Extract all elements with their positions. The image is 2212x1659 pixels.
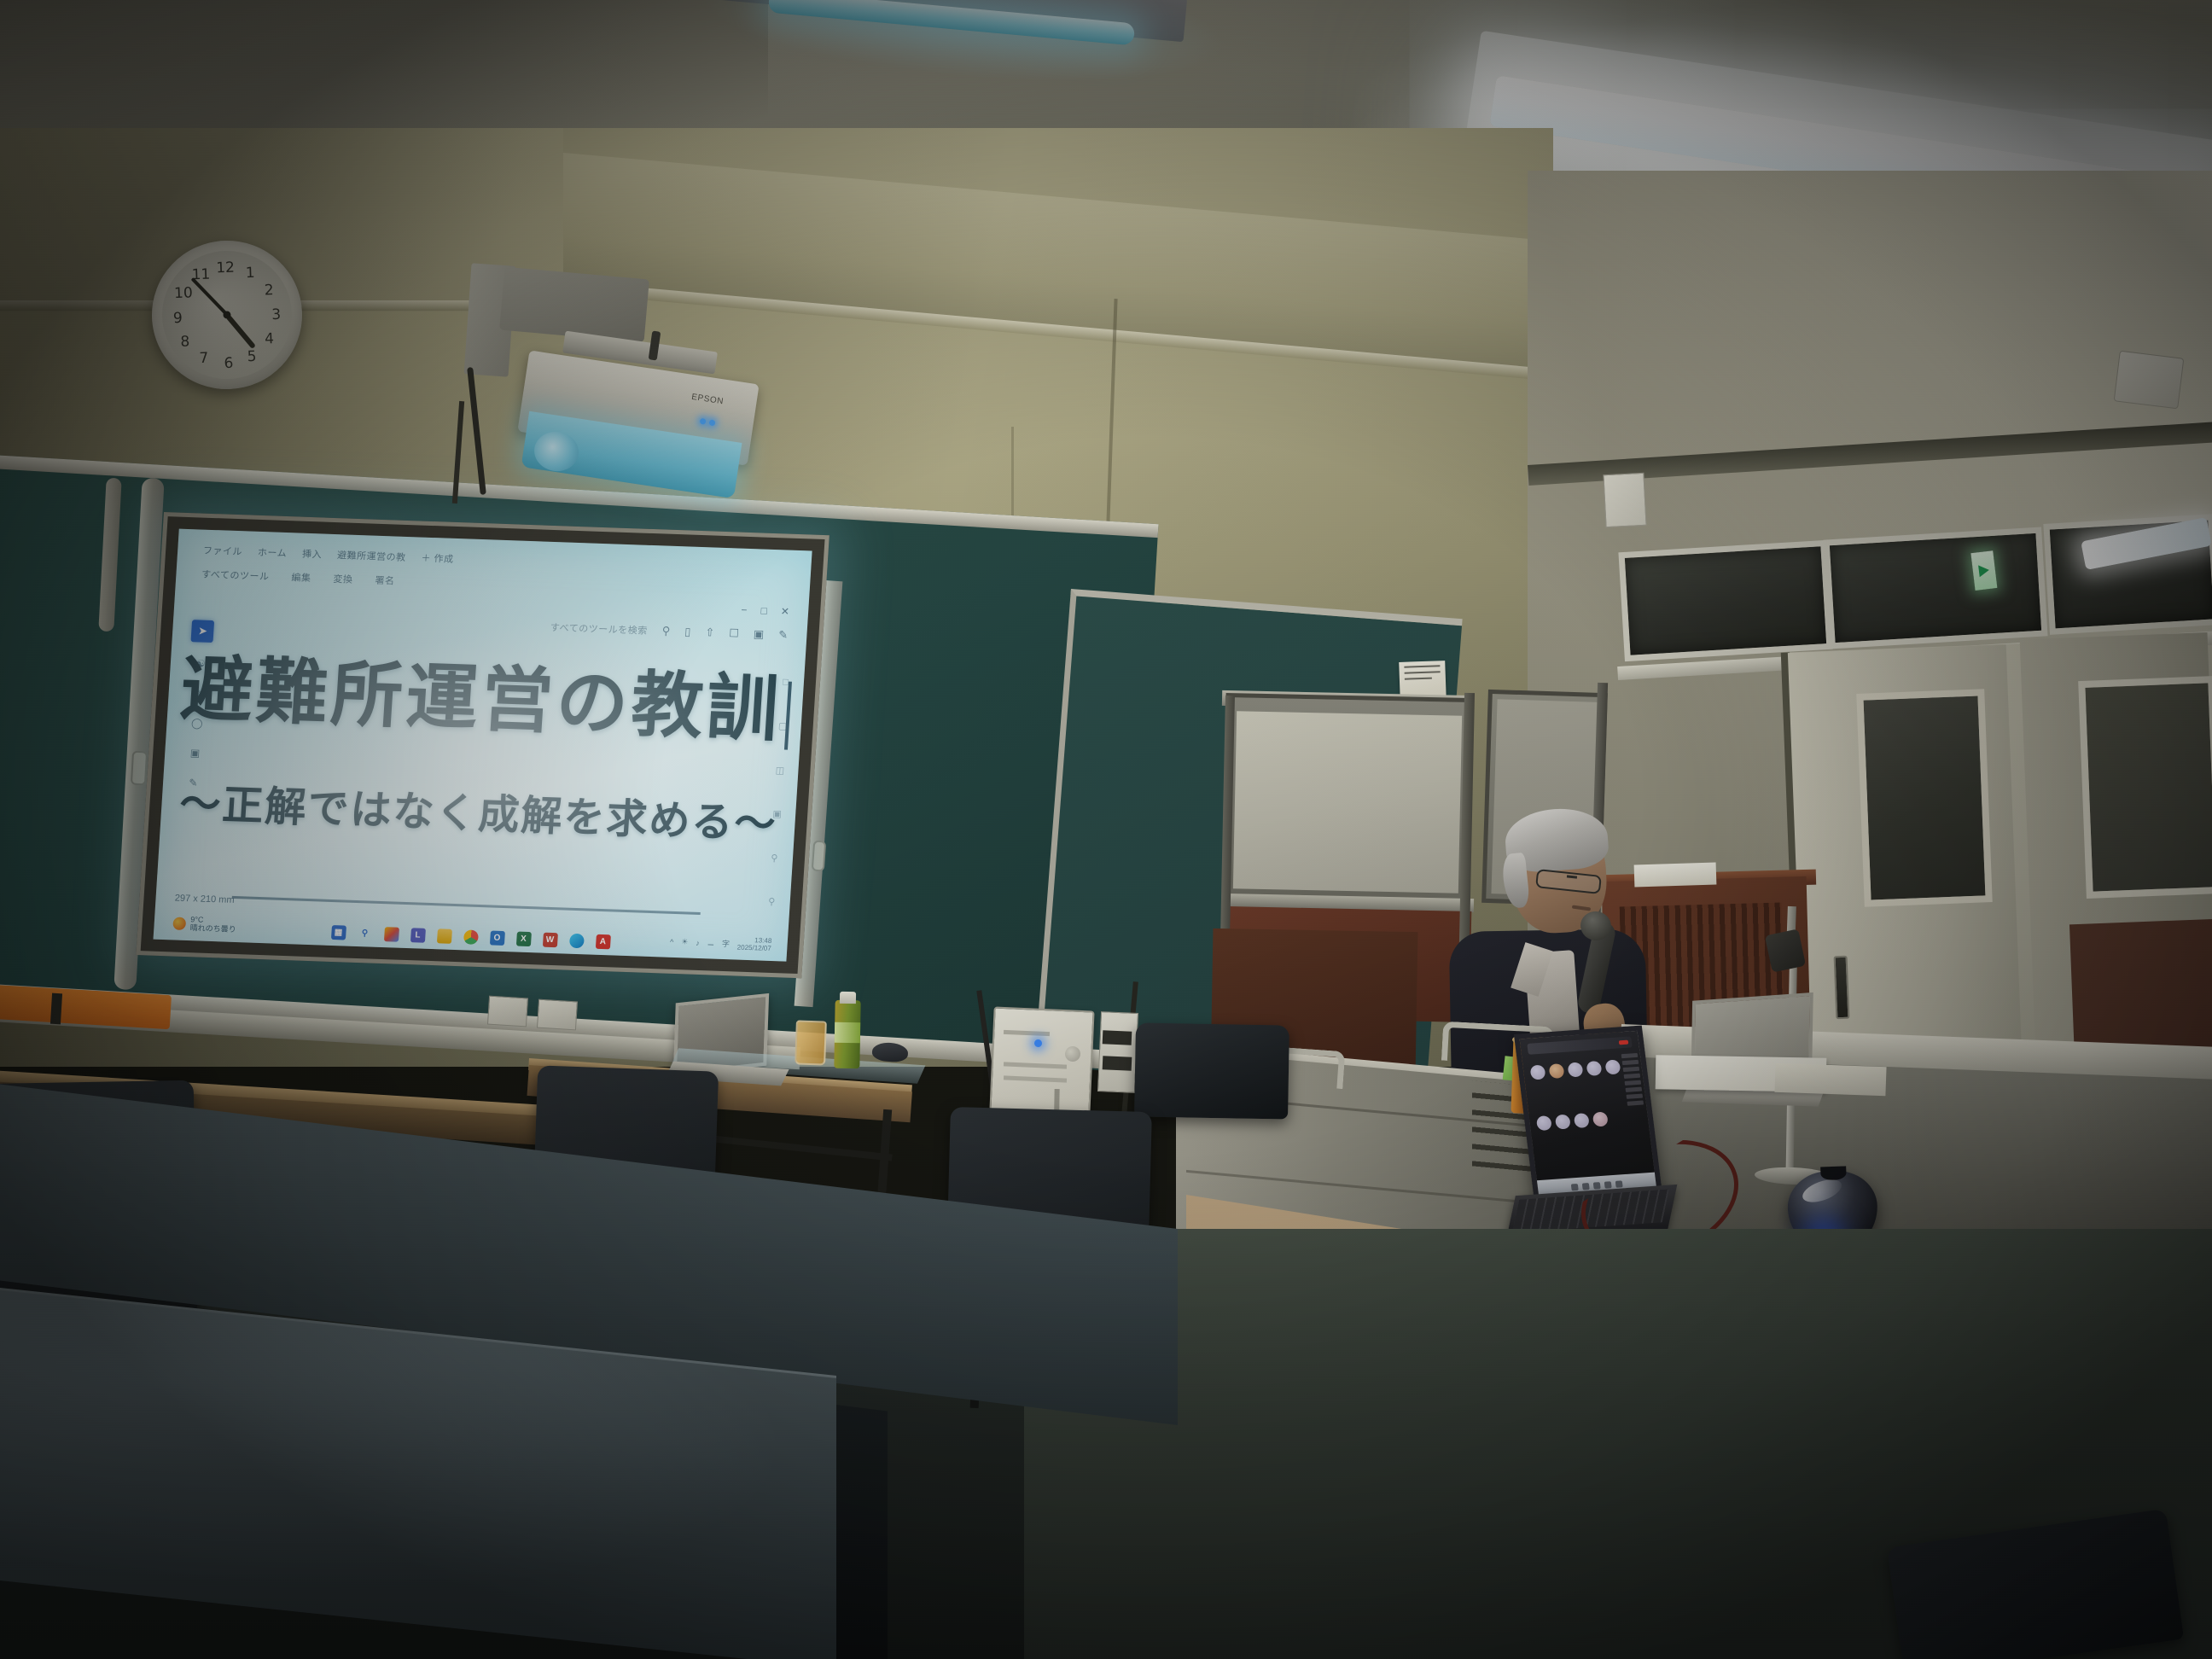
clock-numeral: 2 [264, 282, 274, 299]
video-call-participant-grid [1528, 1057, 1633, 1162]
clock-numeral: 8 [180, 334, 190, 351]
projection-screen: ファイル ホーム 挿入 避難所運営の教 ＋ 作成 すべてのツール 編集 変換 署… [136, 512, 829, 978]
ime-icon[interactable]: 字 [722, 938, 731, 949]
whiteboard-partition-left [1221, 693, 1473, 911]
search-icon[interactable]: ⚲ [661, 624, 671, 637]
wall-outlet[interactable] [537, 999, 578, 1031]
avatar [1536, 1115, 1552, 1131]
clock-numeral: 3 [271, 306, 282, 323]
clock-numeral: 4 [265, 330, 275, 347]
clock-face: 12 1 2 3 4 5 6 7 8 9 10 11 [160, 248, 294, 381]
clock-numeral: 1 [245, 265, 255, 282]
projector-led [700, 418, 707, 425]
acrobat-icon[interactable]: A [595, 934, 610, 950]
battery-icon[interactable]: ⚊ [707, 938, 715, 947]
chalk-eraser-divider [50, 993, 62, 1025]
speaker-top-dip [1820, 1166, 1847, 1180]
notice-text-line [1405, 671, 1441, 673]
projected-image: ファイル ホーム 挿入 避難所運営の教 ＋ 作成 すべてのツール 編集 変換 署… [154, 529, 812, 962]
side-panel-row[interactable] [1621, 1053, 1639, 1058]
toolbar-convert[interactable]: 変換 [333, 572, 353, 586]
partition-board-surface [1233, 711, 1462, 893]
side-panel-row[interactable] [1626, 1087, 1643, 1092]
avatar [1592, 1111, 1609, 1126]
pen-icon[interactable]: ✎ [778, 628, 789, 642]
start-icon[interactable]: ▦ [330, 925, 346, 940]
participant-tile[interactable] [1534, 1114, 1557, 1163]
emergency-exit-sign-icon [1970, 550, 1997, 591]
room-photo-scene: ファイル ホーム 挿入 避難所運営の教 ＋ 作成 すべてのツール 編集 変換 署… [0, 0, 2212, 1659]
avatar [1549, 1063, 1565, 1079]
toolbar-edit[interactable]: 編集 [291, 570, 311, 585]
wall-outlet[interactable] [487, 996, 528, 1027]
avatar [1555, 1114, 1571, 1129]
tea-cup [795, 1020, 827, 1065]
clock-numeral: 5 [247, 347, 257, 364]
bottle-cap [840, 992, 856, 1004]
transom-window [1823, 527, 2047, 649]
clock-numeral: 7 [199, 349, 209, 366]
transom-window [1618, 540, 1832, 661]
widgets-icon[interactable] [383, 927, 399, 942]
search-icon[interactable]: ⚲ [357, 926, 372, 941]
slide-title: 避難所運営の教訓 [166, 652, 804, 750]
comment-icon[interactable]: ☐ [729, 626, 740, 640]
window-controls: − □ ✕ [741, 604, 789, 618]
edge-icon[interactable] [568, 933, 584, 948]
maximize-button[interactable]: □ [760, 605, 767, 617]
menu-item-home[interactable]: ホーム [257, 545, 287, 560]
participant-tile[interactable] [1585, 1059, 1607, 1109]
av-control-panel[interactable] [989, 1006, 1094, 1115]
wall-socket-block[interactable] [1097, 1011, 1138, 1093]
menu-item-file[interactable]: ファイル [202, 544, 242, 559]
volume-icon[interactable]: ♪ [696, 938, 700, 946]
text-cursor [784, 681, 792, 749]
video-call-topbar [1528, 1036, 1633, 1055]
taskbar-clock[interactable]: 13:48 2025/12/07 [736, 936, 771, 952]
chair[interactable] [1134, 1022, 1289, 1119]
clock-date: 2025/12/07 [736, 944, 771, 952]
smoke-detector-icon [2114, 351, 2185, 410]
outlook-icon[interactable]: O [489, 930, 504, 946]
network-icon[interactable]: ☀ [681, 937, 689, 946]
page-icon[interactable]: ▯ [684, 625, 691, 638]
projector-bracket-arm [499, 267, 649, 343]
slide-content: 避難所運営の教訓 ～正解ではなく成解を求める～ [160, 652, 805, 850]
mute-icon[interactable] [1571, 1184, 1579, 1190]
participant-tile[interactable] [1554, 1112, 1576, 1161]
document-scrollbar[interactable] [232, 896, 701, 915]
side-panel-row[interactable] [1625, 1080, 1642, 1086]
side-panel-row[interactable] [1623, 1067, 1640, 1072]
plugged-connector [1103, 1056, 1132, 1070]
papers-on-podium [1634, 862, 1717, 887]
share-screen-icon[interactable] [1593, 1182, 1601, 1189]
participant-tile[interactable] [1573, 1111, 1595, 1161]
tab-document-title[interactable]: 避難所運営の教 [337, 548, 406, 564]
participant-tile[interactable] [1592, 1109, 1614, 1159]
zoom-out-icon[interactable]: ⚲ [768, 896, 776, 907]
new-tab-button[interactable]: ＋ 作成 [421, 551, 454, 566]
avatar [1605, 1059, 1621, 1074]
chalkboard-handle[interactable] [812, 841, 826, 872]
table-brace [688, 1132, 893, 1161]
door-window [1856, 689, 1992, 907]
side-panel-row[interactable] [1626, 1094, 1643, 1099]
toolbar-all-tools[interactable]: すべてのツール [201, 567, 270, 583]
door-handle[interactable] [1834, 956, 1850, 1020]
clock-numeral: 12 [216, 259, 235, 276]
side-panel-row[interactable] [1622, 1060, 1639, 1065]
camera-icon[interactable] [1582, 1183, 1590, 1190]
word-icon[interactable]: W [542, 932, 557, 947]
bottle-label [835, 1022, 860, 1044]
side-panel-row[interactable] [1624, 1074, 1641, 1079]
select-tool-button[interactable]: ➤ [191, 620, 215, 643]
participant-tile[interactable] [1528, 1063, 1551, 1113]
print-icon[interactable]: ▣ [753, 627, 764, 641]
zoom-in-icon[interactable]: ⚲ [771, 853, 778, 864]
clock-numeral: 6 [224, 355, 234, 372]
projector-led [709, 419, 716, 426]
page-size-label: 297 x 210 mm [175, 893, 235, 905]
clock-numeral: 9 [173, 309, 183, 326]
notice-text-line [1405, 678, 1432, 680]
avatar [1529, 1065, 1545, 1080]
avatar [1574, 1113, 1590, 1128]
recording-indicator-icon [1618, 1039, 1628, 1045]
search-placeholder-label[interactable]: すべてのツールを検索 [550, 620, 648, 637]
notice-text-line [1404, 665, 1440, 667]
chevron-up-icon[interactable]: ^ [670, 937, 674, 946]
participant-tile[interactable] [1566, 1060, 1588, 1109]
chrome-icon[interactable] [463, 929, 478, 945]
plugged-connector [1103, 1030, 1132, 1045]
participant-tile[interactable] [1547, 1062, 1569, 1111]
teams-icon[interactable]: L [410, 928, 425, 943]
door-window [2078, 676, 2212, 899]
share-icon[interactable]: ⇧ [705, 626, 715, 639]
menu-item-insert[interactable]: 挿入 [302, 547, 323, 562]
chalkboard-handle[interactable] [131, 751, 148, 786]
clock-hour-hand [226, 314, 256, 349]
close-button[interactable]: ✕ [780, 605, 789, 617]
file-explorer-icon[interactable] [436, 928, 451, 944]
excel-icon[interactable]: X [515, 931, 531, 946]
clock-numeral: 10 [174, 284, 193, 302]
minimize-button[interactable]: − [741, 604, 748, 616]
app-toolbar-right: すべてのツールを検索 ⚲ ▯ ⇧ ☐ ▣ ✎ [550, 620, 788, 642]
wall-junction-box [1603, 473, 1646, 527]
side-panel-row[interactable] [1627, 1101, 1644, 1106]
exit-arrow-icon [1978, 564, 1990, 577]
slide-subtitle: ～正解ではなく成解を求める～ [160, 769, 797, 851]
avatar [1586, 1061, 1603, 1076]
notebook-on-desk [1774, 1063, 1886, 1097]
avatar [1568, 1062, 1584, 1078]
toolbar-sign[interactable]: 署名 [375, 573, 395, 587]
